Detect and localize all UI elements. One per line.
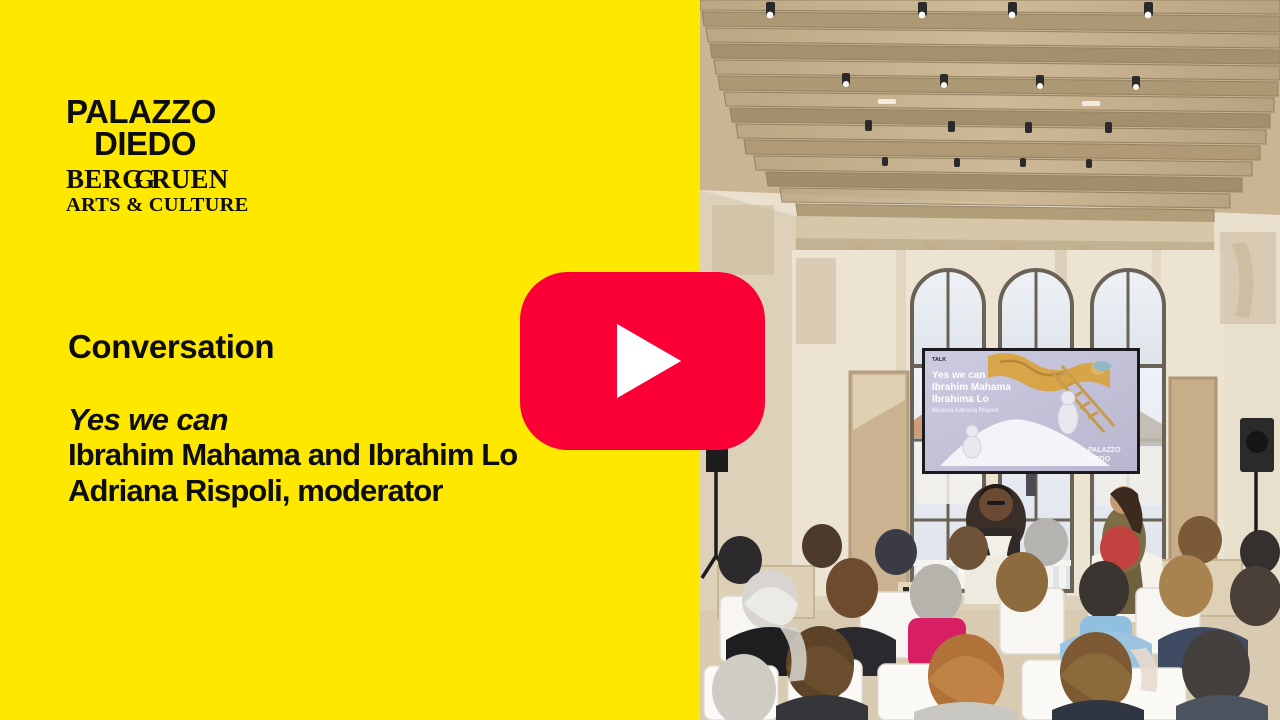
svg-text:Ibrahima Lo: Ibrahima Lo [932,394,989,405]
logo-line-palazzo: PALAZZO [66,96,366,128]
svg-text:Yes we can: Yes we can [932,370,985,381]
video-thumbnail: TALK Yes we can Ibrahim Mahama Ibrahima … [0,0,1280,720]
play-button[interactable] [520,272,765,450]
logo-berggruen-wordmark: BERGGRUEN [66,166,224,193]
svg-text:TALK: TALK [932,357,946,363]
logo-berggruen-part2: RUEN [151,164,228,194]
moderator-line: Adriana Rispoli, moderator [68,473,688,509]
event-photograph: TALK Yes we can Ibrahim Mahama Ibrahima … [700,0,1280,720]
logo-line-diedo: DIEDO [66,128,224,160]
svg-text:Ibrahim Mahama: Ibrahim Mahama [932,382,1011,393]
logo-arts-culture: ARTS & CULTURE [66,194,224,217]
svg-text:DIEDO: DIEDO [1088,456,1111,463]
logo-berggruen-part1: BER [66,164,122,194]
logo-berggruen-gg-ligature: GG [122,164,146,194]
palazzo-diedo-logo: PALAZZO DIEDO BERGGRUEN ARTS & CULTURE [66,96,366,216]
svg-text:PALAZZO: PALAZZO [1088,447,1121,454]
play-triangle-icon [617,324,681,398]
presentation-screen: TALK Yes we can Ibrahim Mahama Ibrahima … [922,348,1140,496]
svg-text:Modera Adriana Rispoli: Modera Adriana Rispoli [932,408,999,414]
